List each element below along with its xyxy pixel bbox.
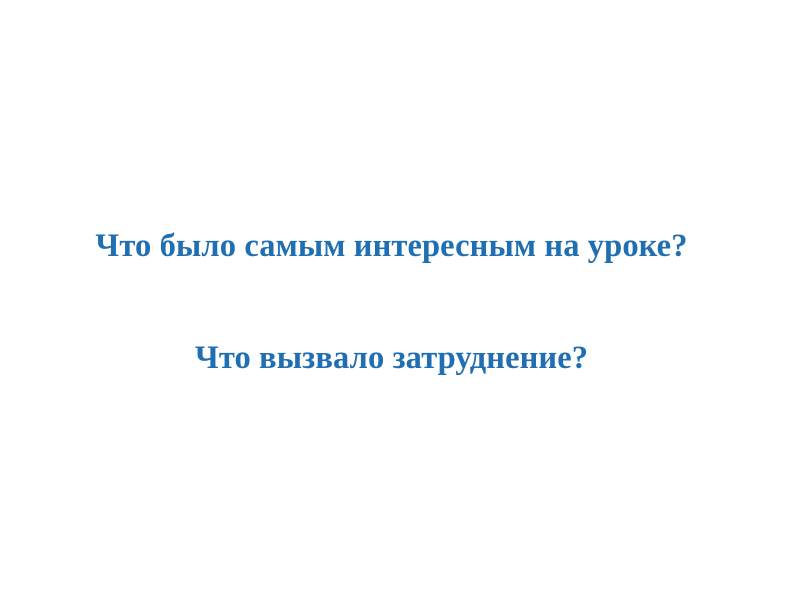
reflection-question-1: Что было самым интересным на уроке? — [38, 228, 745, 266]
paragraph-spacer — [38, 266, 745, 340]
slide-canvas: Что было самым интересным на уроке? Что … — [0, 0, 800, 600]
reflection-question-2: Что вызвало затруднение? — [38, 340, 745, 378]
reflection-questions-block: Что было самым интересным на уроке? Что … — [38, 228, 745, 377]
